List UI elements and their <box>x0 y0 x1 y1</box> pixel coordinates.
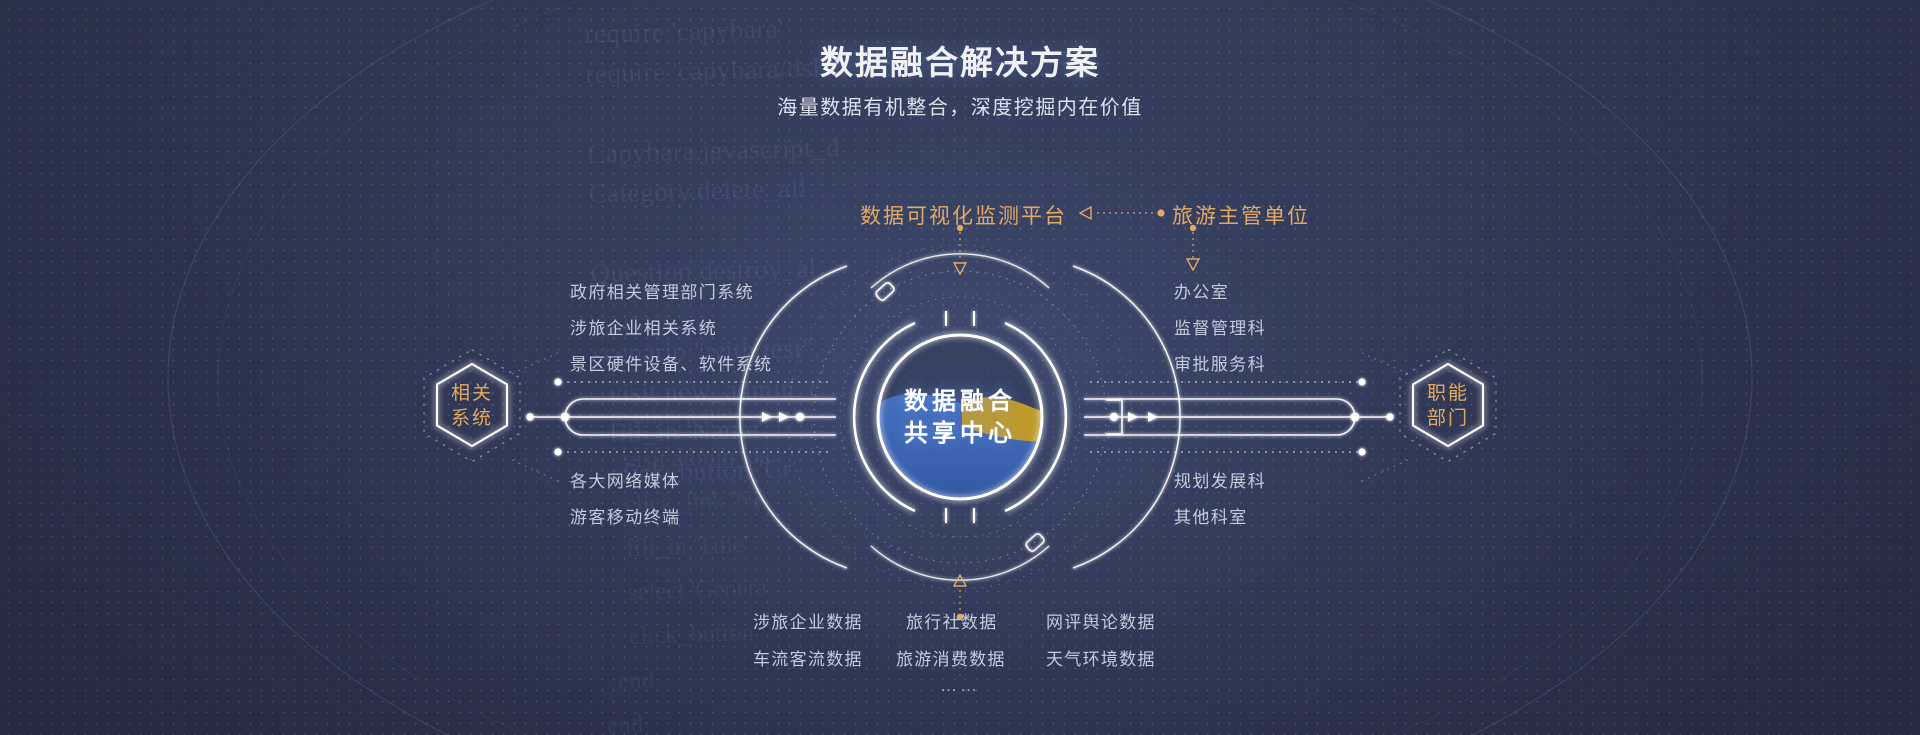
core-label-line2: 共享中心 <box>860 418 1060 450</box>
bottom-data-item-5[interactable]: 旅游消费数据 <box>896 645 1006 670</box>
left-source-item-1[interactable]: 政府相关管理部门系统 <box>570 278 754 303</box>
right-dept-item-4[interactable]: 规划发展科 <box>1174 467 1266 492</box>
bottom-data-item-4[interactable]: 车流客流数据 <box>753 645 863 670</box>
left-source-item-4[interactable]: 各大网络媒体 <box>570 467 680 492</box>
label-visualization-platform[interactable]: 数据可视化监测平台 <box>860 200 1067 230</box>
right-dept-item-5[interactable]: 其他科室 <box>1174 503 1248 528</box>
bottom-ellipsis: …… <box>940 676 980 696</box>
infographic-canvas: require 'capybara' require 'capybara/dsl… <box>0 0 1920 735</box>
bottom-data-item-1[interactable]: 涉旅企业数据 <box>753 608 863 633</box>
right-dept-item-2[interactable]: 监督管理科 <box>1174 314 1266 339</box>
left-source-item-5[interactable]: 游客移动终端 <box>570 503 680 528</box>
label-tourism-authority[interactable]: 旅游主管单位 <box>1172 200 1310 230</box>
left-source-item-2[interactable]: 涉旅企业相关系统 <box>570 314 717 339</box>
right-hexagon-label-line1: 职能 <box>1393 381 1503 406</box>
core-label-line1: 数据融合 <box>860 386 1060 418</box>
left-hexagon-label-line2: 系统 <box>417 406 527 431</box>
core-sphere-label: 数据融合 共享中心 <box>860 386 1060 450</box>
right-hexagon-label-line2: 部门 <box>1393 406 1503 431</box>
bottom-data-item-3[interactable]: 网评舆论数据 <box>1046 608 1156 633</box>
left-source-item-3[interactable]: 景区硬件设备、软件系统 <box>570 350 772 375</box>
right-hexagon-label[interactable]: 职能 部门 <box>1393 381 1503 431</box>
left-hexagon-label[interactable]: 相关 系统 <box>417 381 527 431</box>
right-dept-item-3[interactable]: 审批服务科 <box>1174 350 1266 375</box>
bottom-data-item-2[interactable]: 旅行社数据 <box>906 608 998 633</box>
right-dept-item-1[interactable]: 办公室 <box>1174 278 1229 303</box>
bottom-data-item-6[interactable]: 天气环境数据 <box>1046 645 1156 670</box>
left-hexagon-label-line1: 相关 <box>417 381 527 406</box>
